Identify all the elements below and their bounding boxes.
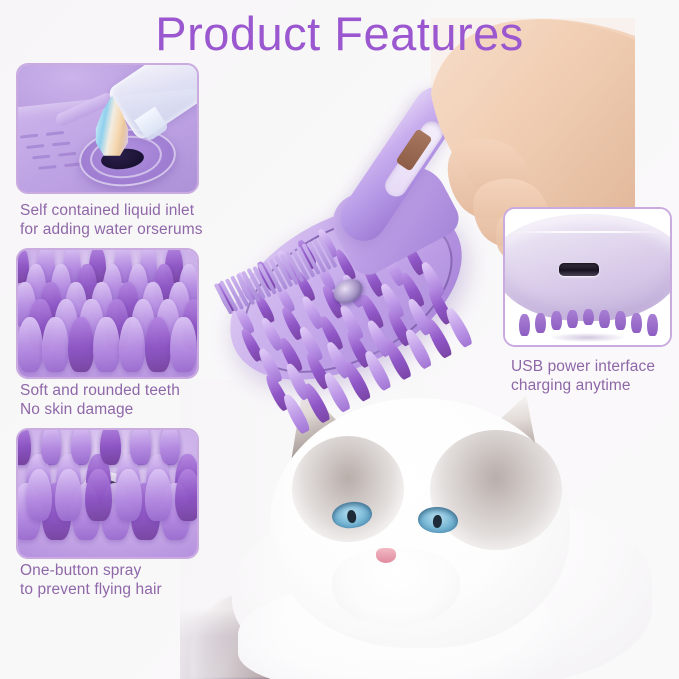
- feature-image-usb-charging: [503, 207, 672, 347]
- cat-photo: [180, 380, 679, 679]
- teeth-field: [18, 250, 197, 377]
- cat-muzzle: [332, 548, 460, 626]
- product-features-image: Product Features: [0, 0, 679, 679]
- feature-caption-usb-charging: USB power interface charging anytime: [511, 357, 679, 395]
- feature-caption-soft-teeth: Soft and rounded teeth No skin damage: [20, 381, 235, 419]
- feature-caption-one-button-spray: One-button spray to prevent flying hair: [20, 561, 235, 599]
- cat-pupil-right: [433, 514, 443, 528]
- feature-caption-liquid-inlet: Self contained liquid inlet for adding w…: [20, 201, 235, 239]
- usb-c-port: [559, 263, 599, 275]
- main-product-photo: [215, 58, 545, 403]
- feature-image-liquid-inlet: [16, 63, 199, 194]
- feature-image-soft-teeth: [16, 248, 199, 379]
- page-title: Product Features: [0, 6, 679, 62]
- cat-nose: [376, 548, 396, 563]
- cat-face-mask-right: [430, 430, 562, 550]
- brush-body-seam: [512, 231, 664, 233]
- feature-image-one-button-spray: [16, 428, 199, 559]
